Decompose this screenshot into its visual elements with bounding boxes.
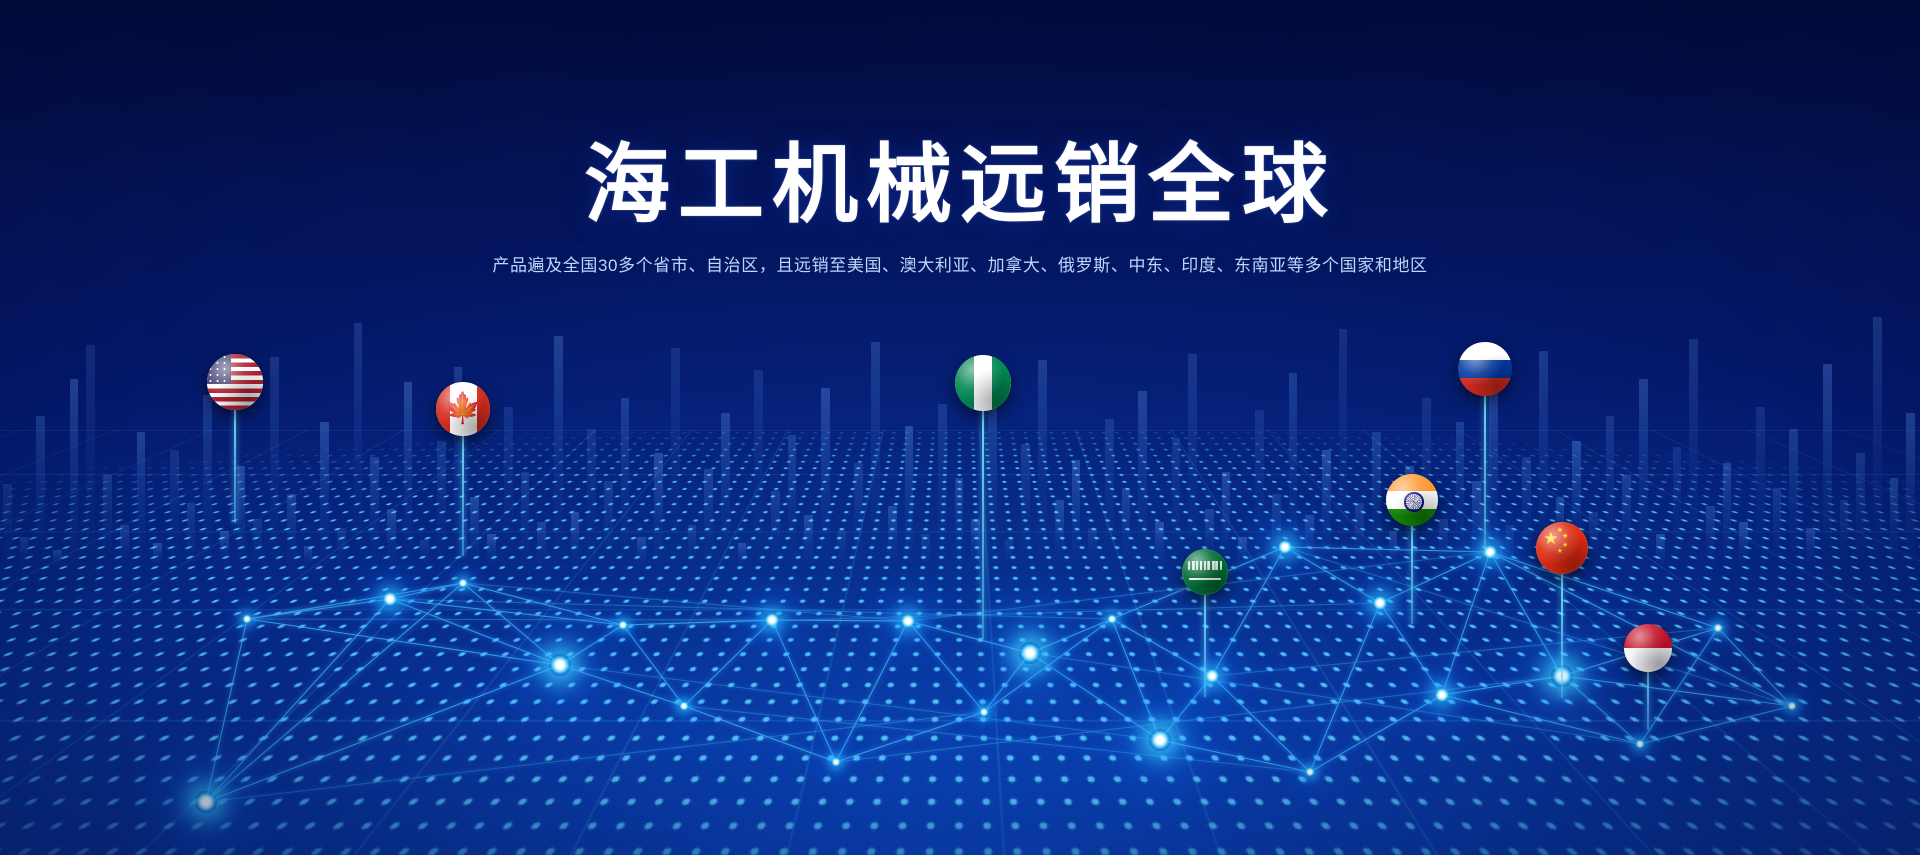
- flag-pin-indonesia[interactable]: [1624, 624, 1672, 732]
- flag-sa-icon[interactable]: [1182, 549, 1228, 595]
- flag-pin-canada[interactable]: 🍁: [436, 382, 490, 558]
- flag-id-icon[interactable]: [1624, 624, 1672, 672]
- pin-stem: [1204, 593, 1206, 697]
- flag-ca-icon[interactable]: 🍁: [436, 382, 490, 436]
- pin-stem: [1411, 524, 1413, 624]
- flag-cn-icon[interactable]: ★★★★★: [1536, 522, 1588, 574]
- pin-stem: [1647, 670, 1649, 730]
- flag-ru-icon[interactable]: [1458, 342, 1512, 396]
- flag-pin-nigeria[interactable]: [955, 355, 1011, 641]
- flag-pin-saudi-arabia[interactable]: [1182, 549, 1228, 699]
- pin-stem: [982, 409, 984, 639]
- pin-stem: [1561, 572, 1563, 698]
- flag-us-icon[interactable]: [207, 354, 263, 410]
- flag-pins: 🍁★★★★★: [0, 0, 1920, 855]
- flag-ng-icon[interactable]: [955, 355, 1011, 411]
- flag-pin-china[interactable]: ★★★★★: [1536, 522, 1588, 700]
- flag-in-icon[interactable]: [1386, 474, 1438, 526]
- flag-pin-russia[interactable]: [1458, 342, 1512, 554]
- pin-stem: [1484, 394, 1486, 552]
- flag-pin-united-states[interactable]: [207, 354, 263, 525]
- hero-banner: 🍁★★★★★ 海工机械远销全球 产品遍及全国30多个省市、自治区，且远销至美国、…: [0, 0, 1920, 855]
- pin-stem: [234, 408, 236, 523]
- pin-stem: [462, 434, 464, 556]
- flag-pin-india[interactable]: [1386, 474, 1438, 626]
